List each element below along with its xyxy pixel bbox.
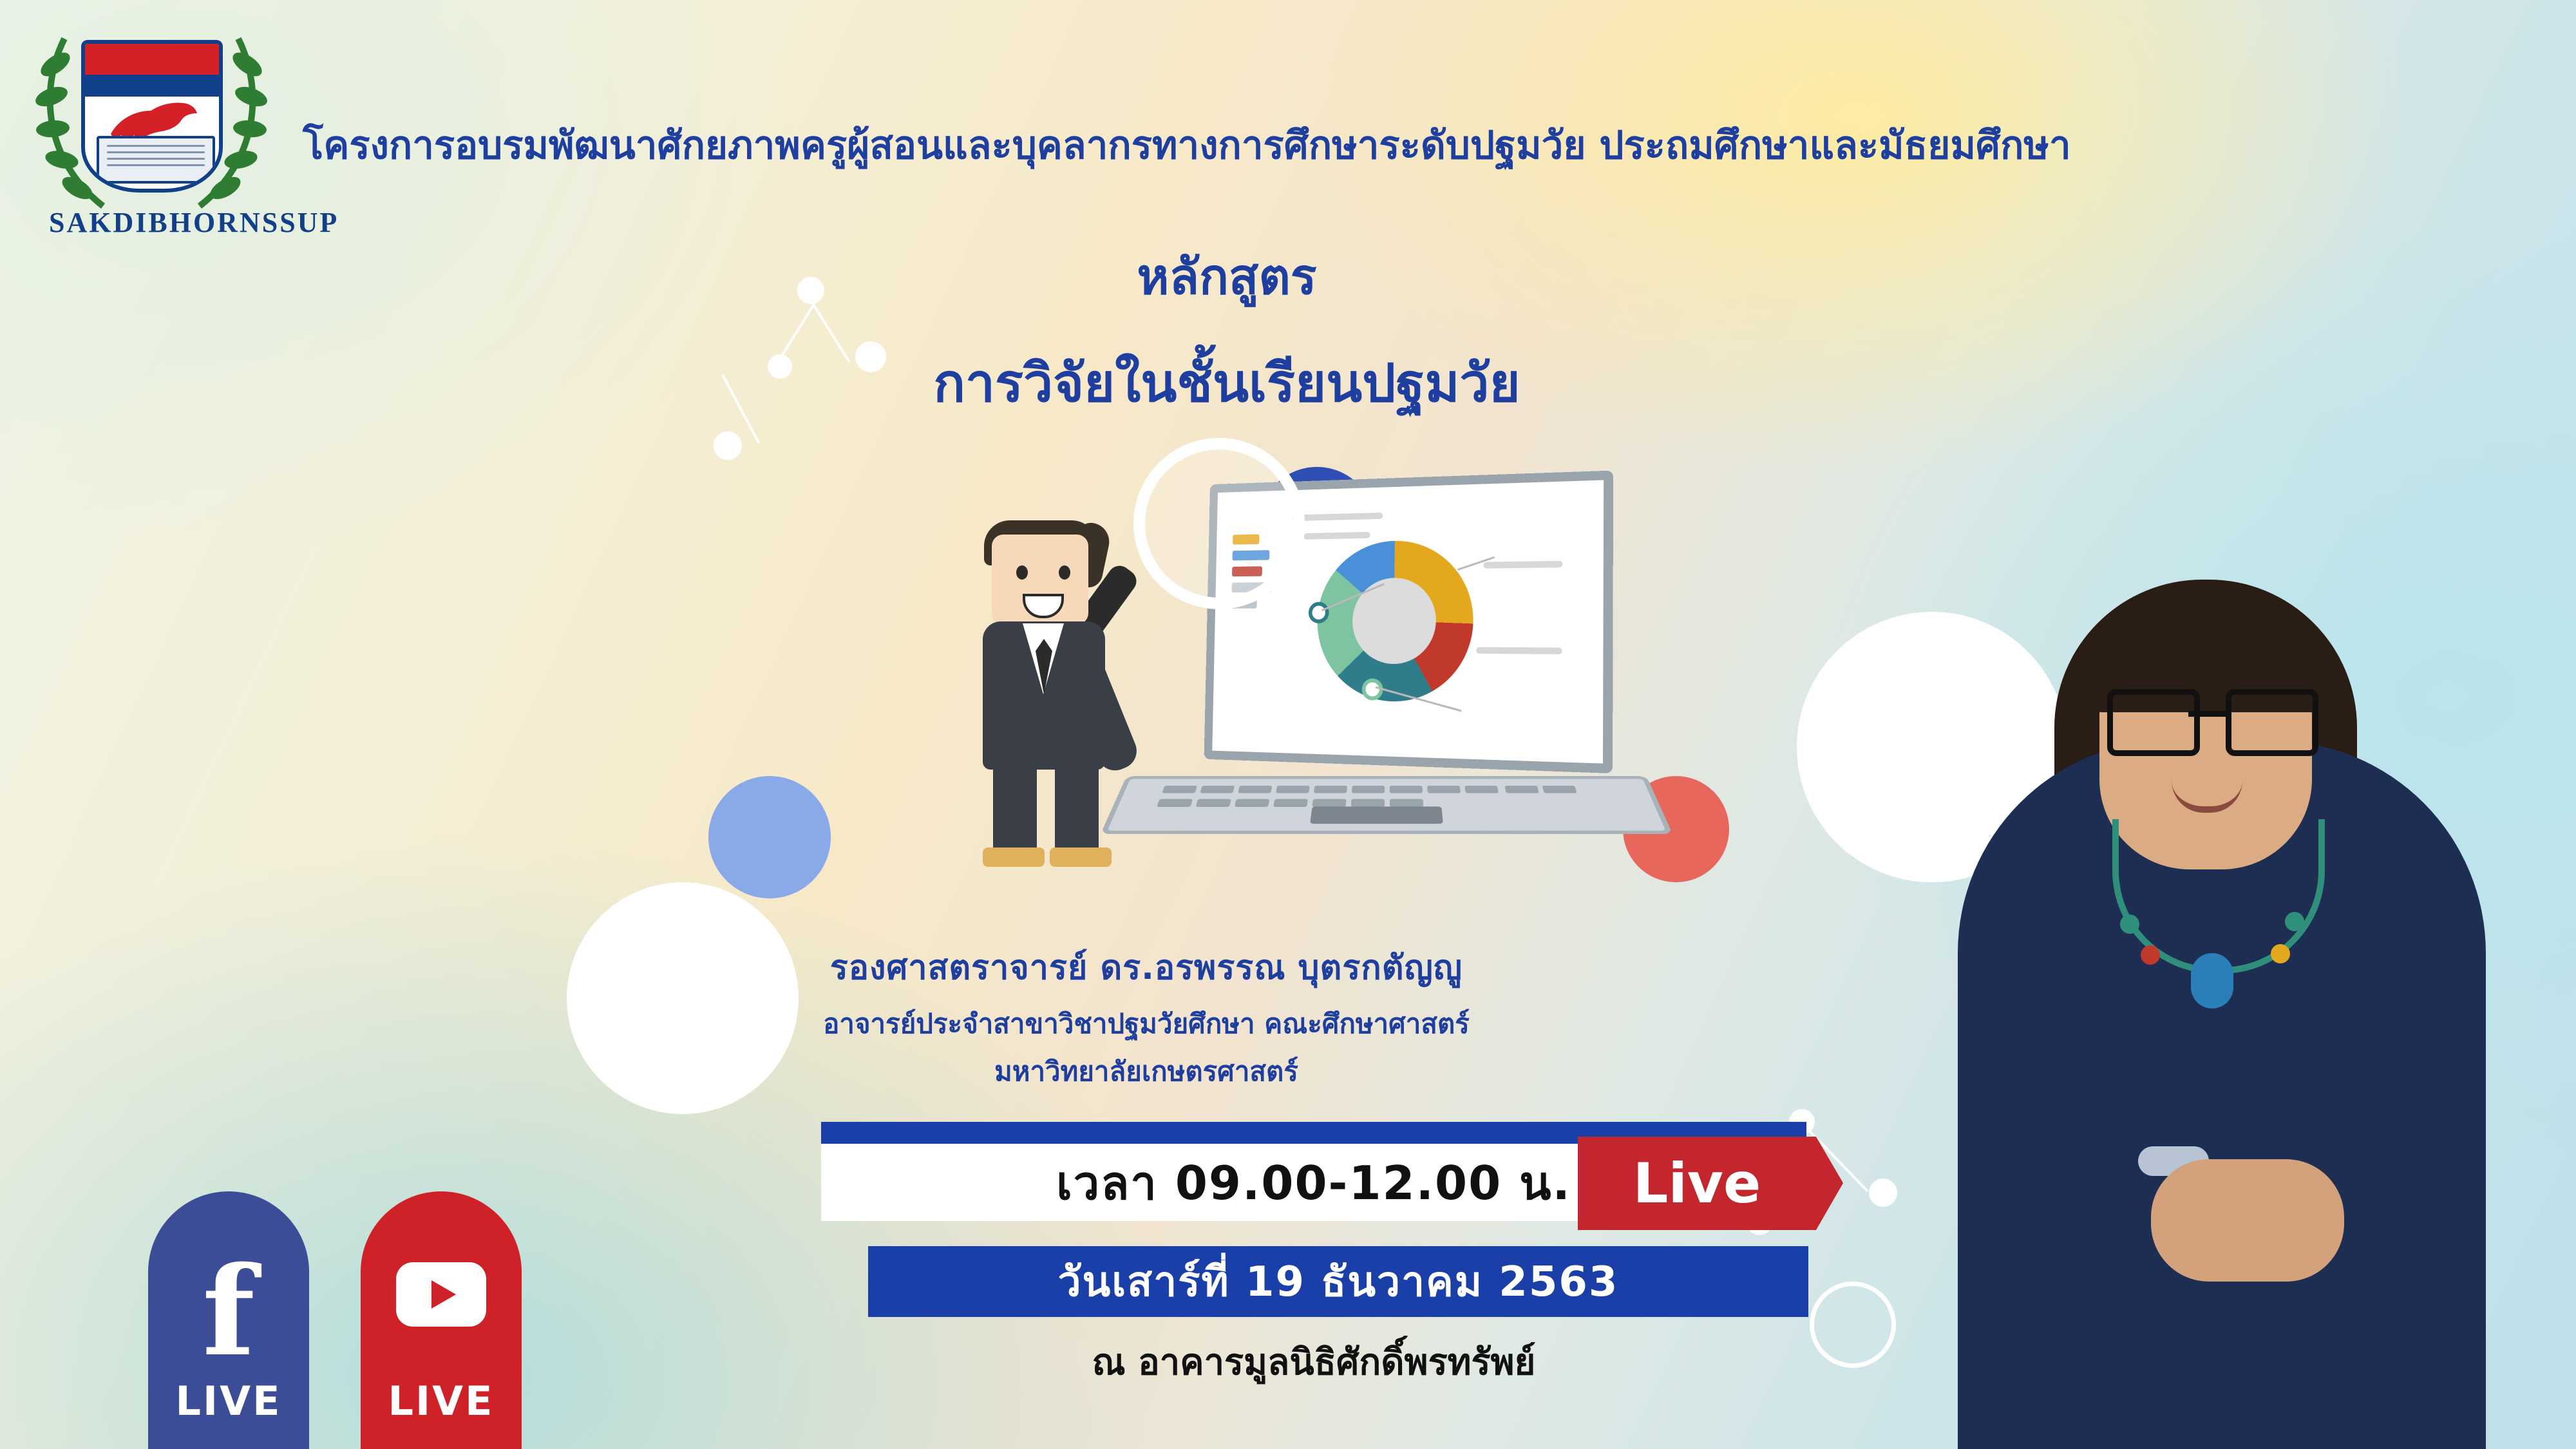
- live-badge: Live: [1578, 1137, 1816, 1230]
- facebook-live-label: LIVE: [148, 1378, 309, 1425]
- youtube-live-button[interactable]: LIVE: [361, 1191, 522, 1449]
- decorative-circle-lightblue: [708, 776, 831, 898]
- course-name: การวิจัยในชั้นเรียนปฐมวัย: [0, 341, 2515, 425]
- event-date: วันเสาร์ที่ 19 ธันวาคม 2563: [868, 1246, 1808, 1317]
- facebook-icon: f: [148, 1251, 309, 1373]
- crest-name: SAKDIBHORNSSUP: [49, 206, 249, 239]
- book-icon: [97, 136, 215, 184]
- illustration-person: [921, 489, 1191, 850]
- school-crest: SAKDIBHORNSSUP: [26, 13, 270, 270]
- event-venue: ณ อาคารมูลนิธิศักดิ์พรทรัพย์: [821, 1333, 1806, 1390]
- donut-chart: [1316, 539, 1474, 703]
- glasses-icon: [2107, 689, 2307, 744]
- illustration: [921, 464, 1662, 914]
- speaker-position: อาจารย์ประจำสาขาวิชาปฐมวัยศึกษา คณะศึกษา…: [451, 1003, 1842, 1045]
- speaker-organization: มหาวิทยาลัยเกษตรศาสตร์: [451, 1050, 1842, 1093]
- facebook-live-button[interactable]: f LIVE: [148, 1191, 309, 1449]
- speaker-name: รองศาสตราจารย์ ดร.อรพรรณ บุตรกตัญญู: [451, 940, 1842, 994]
- speaker-block: รองศาสตราจารย์ ดร.อรพรรณ บุตรกตัญญู อาจา…: [451, 940, 1842, 1093]
- course-label: หลักสูตร: [0, 238, 2515, 316]
- header-title: โครงการอบรมพัฒนาศักยภาพครูผู้สอนและบุคลา…: [303, 115, 2524, 176]
- youtube-live-label: LIVE: [361, 1378, 522, 1425]
- crest-shield: [81, 40, 223, 193]
- youtube-icon: [396, 1262, 486, 1327]
- poster-canvas: SAKDIBHORNSSUP โครงการอบรมพัฒนาศักยภาพคร…: [0, 0, 2576, 1449]
- presenter-photo: [1880, 528, 2576, 1449]
